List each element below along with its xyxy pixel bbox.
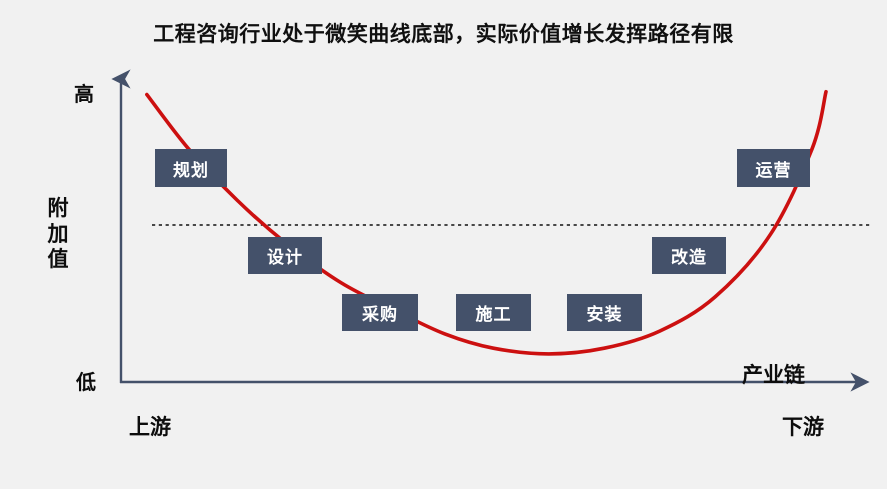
stage-box-label: 采购 [362, 300, 398, 325]
y-axis-title-char-1: 附 [38, 196, 78, 222]
x-axis-upstream-label: 上游 [129, 411, 171, 441]
y-axis-title-char-3: 值 [38, 247, 78, 273]
y-axis-title-char-2: 加 [38, 222, 78, 248]
stage-box-label: 施工 [476, 300, 512, 325]
stage-box-label: 运营 [756, 156, 792, 181]
stage-box[interactable]: 施工 [456, 294, 531, 331]
y-axis-low-label: 低 [76, 366, 96, 395]
slide-canvas: 工程咨询行业处于微笑曲线底部，实际价值增长发挥路径有限 高 低 附 加 值 产业… [0, 0, 887, 489]
stage-box[interactable]: 改造 [652, 237, 726, 274]
stage-box-label: 改造 [671, 243, 707, 268]
stage-box[interactable]: 采购 [342, 294, 418, 331]
stage-box-label: 安装 [587, 300, 623, 325]
x-axis-downstream-label: 下游 [782, 411, 824, 441]
stage-box-label: 设计 [267, 243, 303, 268]
stage-box[interactable]: 规划 [155, 149, 227, 187]
y-axis-title: 附 加 值 [38, 196, 78, 273]
stage-box[interactable]: 设计 [248, 237, 322, 274]
y-axis-high-label: 高 [74, 78, 94, 107]
stage-box[interactable]: 运营 [737, 149, 810, 187]
stage-box-label: 规划 [173, 156, 209, 181]
stage-box[interactable]: 安装 [567, 294, 642, 331]
x-axis-title: 产业链 [742, 359, 805, 389]
